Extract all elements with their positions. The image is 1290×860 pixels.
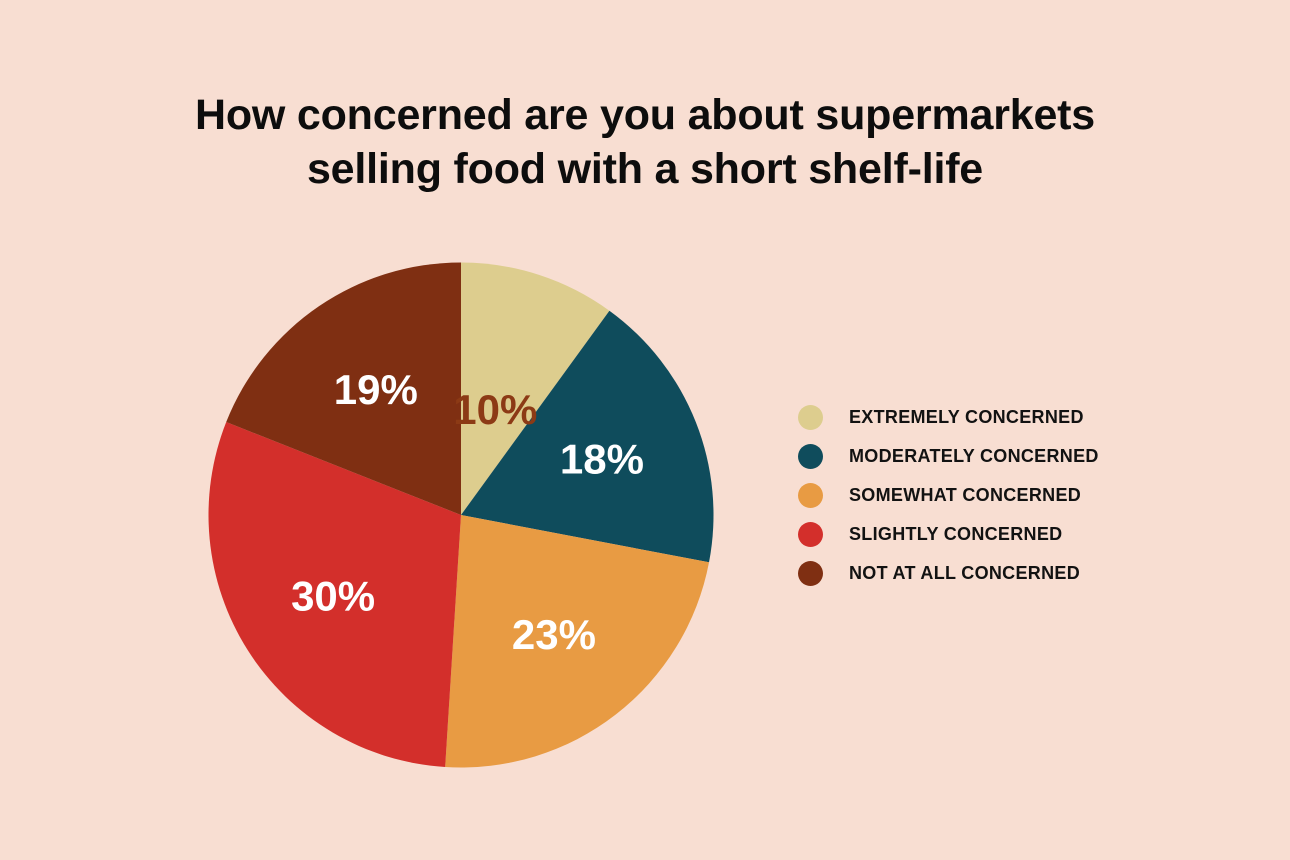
- legend-swatch-icon: [798, 444, 823, 469]
- legend-swatch-icon: [798, 522, 823, 547]
- pie-chart: 10%18%23%30%19%: [208, 262, 714, 768]
- legend-item-label: NOT AT ALL CONCERNED: [849, 563, 1080, 584]
- legend-swatch-icon: [798, 483, 823, 508]
- pie-slice-label: 18%: [560, 436, 644, 483]
- legend-item[interactable]: NOT AT ALL CONCERNED: [798, 554, 1218, 593]
- legend-item-label: SOMEWHAT CONCERNED: [849, 485, 1081, 506]
- legend-swatch-icon: [798, 405, 823, 430]
- legend-item[interactable]: SLIGHTLY CONCERNED: [798, 515, 1218, 554]
- pie-slice-label: 10%: [453, 386, 537, 433]
- pie-slice-label: 30%: [291, 573, 375, 620]
- legend-swatch-icon: [798, 561, 823, 586]
- pie-slice-group: [208, 263, 713, 768]
- page-title: How concerned are you about supermarkets…: [0, 88, 1290, 196]
- legend-item-label: EXTREMELY CONCERNED: [849, 407, 1084, 428]
- legend-item[interactable]: SOMEWHAT CONCERNED: [798, 476, 1218, 515]
- legend-item-label: MODERATELY CONCERNED: [849, 446, 1099, 467]
- chart-legend: EXTREMELY CONCERNEDMODERATELY CONCERNEDS…: [798, 398, 1218, 593]
- pie-slice-label: 23%: [512, 611, 596, 658]
- pie-slice-label: 19%: [334, 366, 418, 413]
- legend-item-label: SLIGHTLY CONCERNED: [849, 524, 1062, 545]
- pie-chart-svg: 10%18%23%30%19%: [208, 262, 714, 768]
- pie-chart-infographic: How concerned are you about supermarkets…: [0, 0, 1290, 860]
- legend-item[interactable]: MODERATELY CONCERNED: [798, 437, 1218, 476]
- legend-item[interactable]: EXTREMELY CONCERNED: [798, 398, 1218, 437]
